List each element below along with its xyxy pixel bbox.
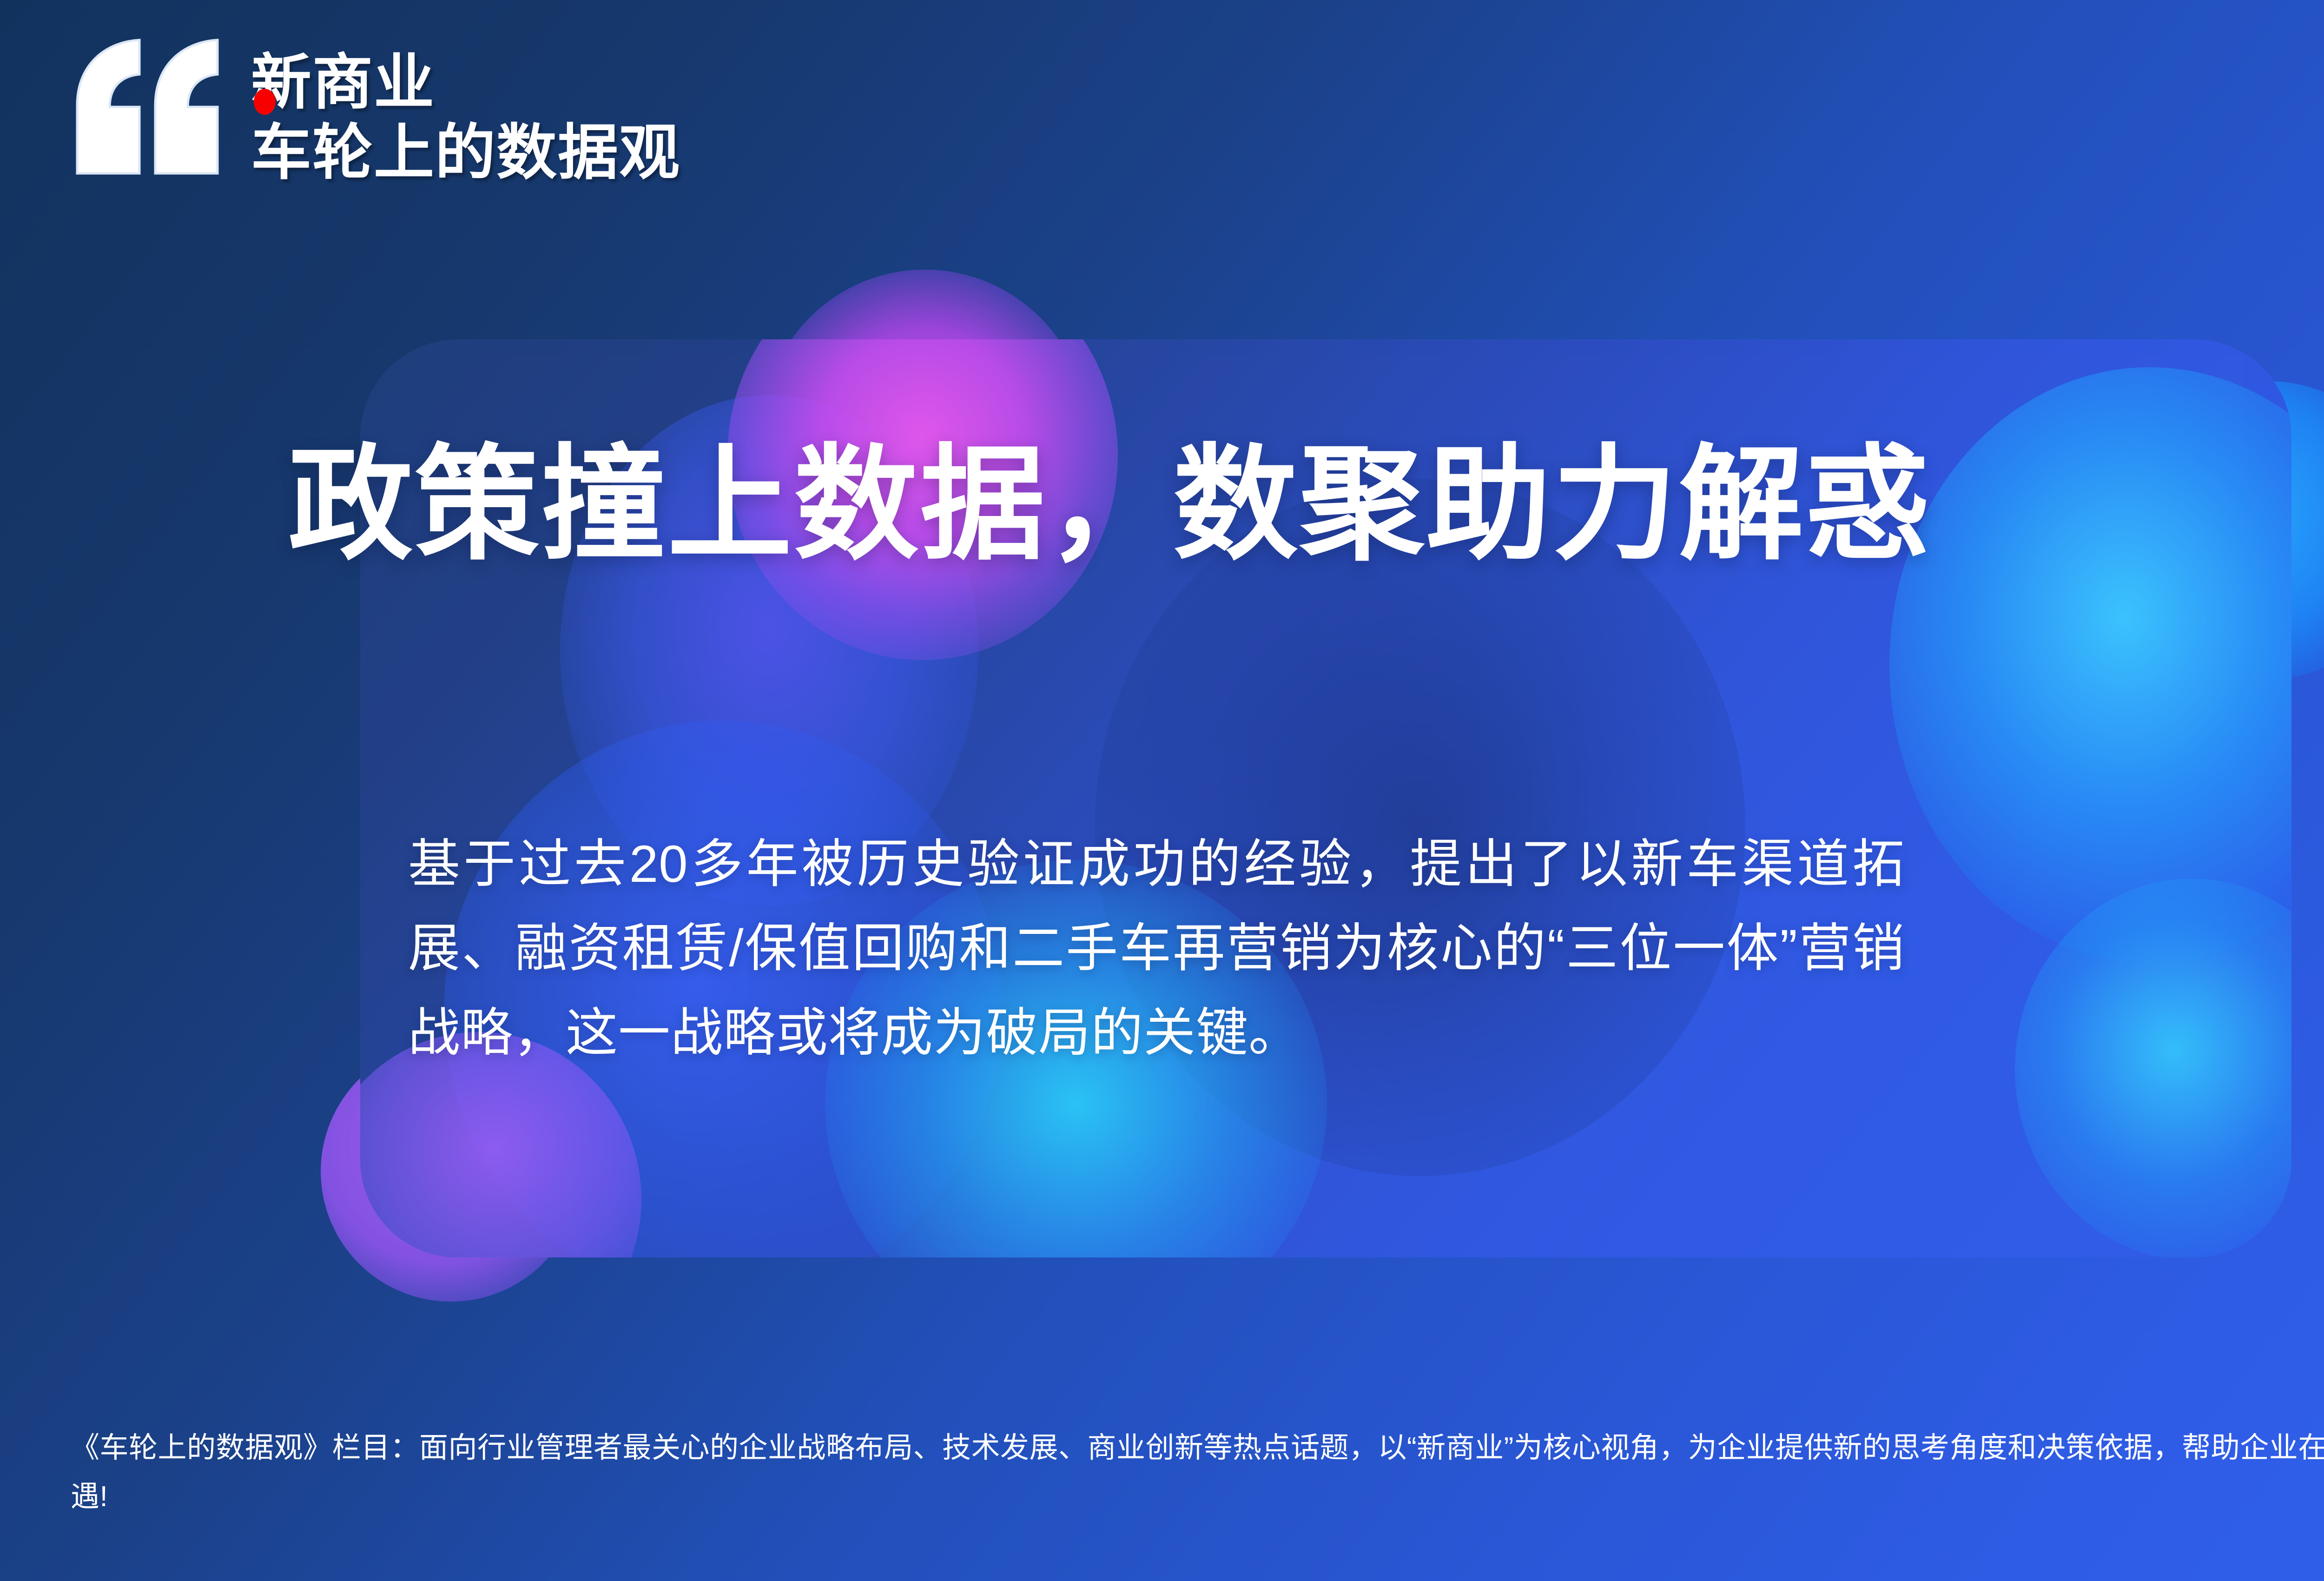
brand-logo: 新商业 车轮上的数据观	[69, 36, 680, 188]
brand-name-block: 新商业 车轮上的数据观	[251, 36, 680, 188]
red-dot-icon	[254, 89, 276, 115]
page-title: 政策撞上数据，数聚助力解惑	[288, 435, 1932, 574]
card-body-paragraph: 基于过去20多年被历史验证成功的经验，提出了以新车渠道拓展、融资租赁/保值回购和…	[408, 822, 1905, 1075]
brand-name-line-1-label: 新商业	[251, 48, 435, 116]
footer-note: 《车轮上的数据观》栏目：面向行业管理者最关心的企业战略布局、技术发展、商业创新等…	[71, 1423, 2324, 1521]
brand-name-line-1: 新商业	[251, 47, 680, 118]
brand-name-line-2-label: 车轮上的数据观	[251, 119, 680, 186]
brand-name-line-2: 车轮上的数据观	[251, 118, 680, 188]
double-quote-open-icon	[69, 36, 222, 176]
